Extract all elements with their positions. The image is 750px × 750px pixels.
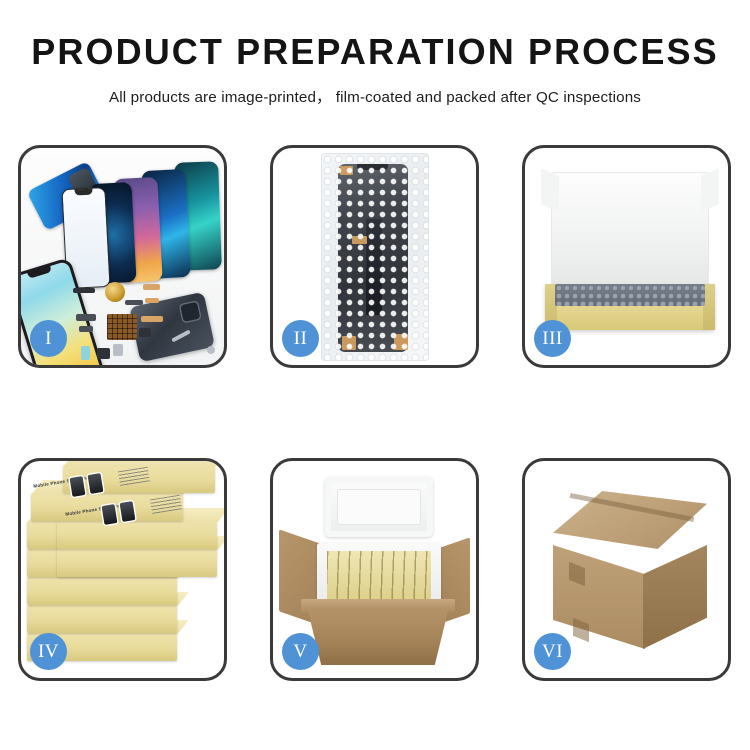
gold-chip-part	[105, 282, 125, 302]
bubble-wrapped-screen	[321, 153, 429, 361]
bubble-wrapped-contents	[555, 284, 705, 306]
page-header: PRODUCT PREPARATION PROCESS All products…	[0, 0, 750, 107]
small-part	[125, 300, 143, 305]
circuit-board-part	[107, 314, 137, 340]
page-title: PRODUCT PREPARATION PROCESS	[0, 34, 750, 70]
stacked-box	[27, 577, 177, 605]
flex-cable	[366, 219, 382, 315]
small-part	[73, 288, 95, 293]
packed-boxes-inside	[327, 551, 431, 601]
stacked-box-top-right	[57, 549, 217, 577]
stacked-box-top-right	[57, 521, 217, 549]
small-part	[145, 298, 159, 303]
small-part	[81, 346, 90, 360]
carton-side-face	[643, 545, 707, 649]
box-label-phone-image	[120, 501, 136, 522]
small-part	[143, 284, 160, 290]
process-step-panel-1: I	[18, 145, 227, 368]
small-part	[97, 348, 110, 359]
box-label-phone-image	[88, 473, 104, 494]
screw-part	[207, 346, 215, 354]
step-badge-5: V	[282, 633, 319, 670]
tape-piece	[342, 336, 356, 350]
process-step-panel-2: II	[270, 145, 479, 368]
carton-body	[307, 607, 449, 665]
process-step-panel-6: VI	[522, 458, 731, 681]
step-badge-6: VI	[534, 633, 571, 670]
page-subtitle: All products are image-printed， film-coa…	[0, 85, 750, 107]
tape-piece	[352, 236, 367, 244]
process-step-panel-4: Mobile Phone Spare Parts Mobile Phone Sp…	[18, 458, 227, 681]
step-badge-1: I	[30, 320, 67, 357]
box-label-phone-image	[70, 476, 86, 497]
process-step-grid: I II III	[18, 145, 732, 681]
styrofoam-lid	[325, 477, 433, 537]
small-part	[76, 314, 96, 321]
step-badge-2: II	[282, 320, 319, 357]
process-step-panel-5: V	[270, 458, 479, 681]
box-lid-open	[551, 172, 709, 292]
step-badge-3: III	[534, 320, 571, 357]
small-part	[79, 326, 93, 332]
step-badge-4: IV	[30, 633, 67, 670]
tape-piece	[340, 166, 353, 175]
box-label-phone-image	[102, 504, 118, 525]
small-part	[113, 344, 123, 356]
flex-cable-part	[141, 316, 163, 322]
carton-front-face	[553, 545, 645, 649]
tape-piece	[394, 334, 408, 350]
stacked-box	[27, 605, 177, 633]
small-part	[139, 328, 151, 337]
process-step-panel-3: III	[522, 145, 731, 368]
